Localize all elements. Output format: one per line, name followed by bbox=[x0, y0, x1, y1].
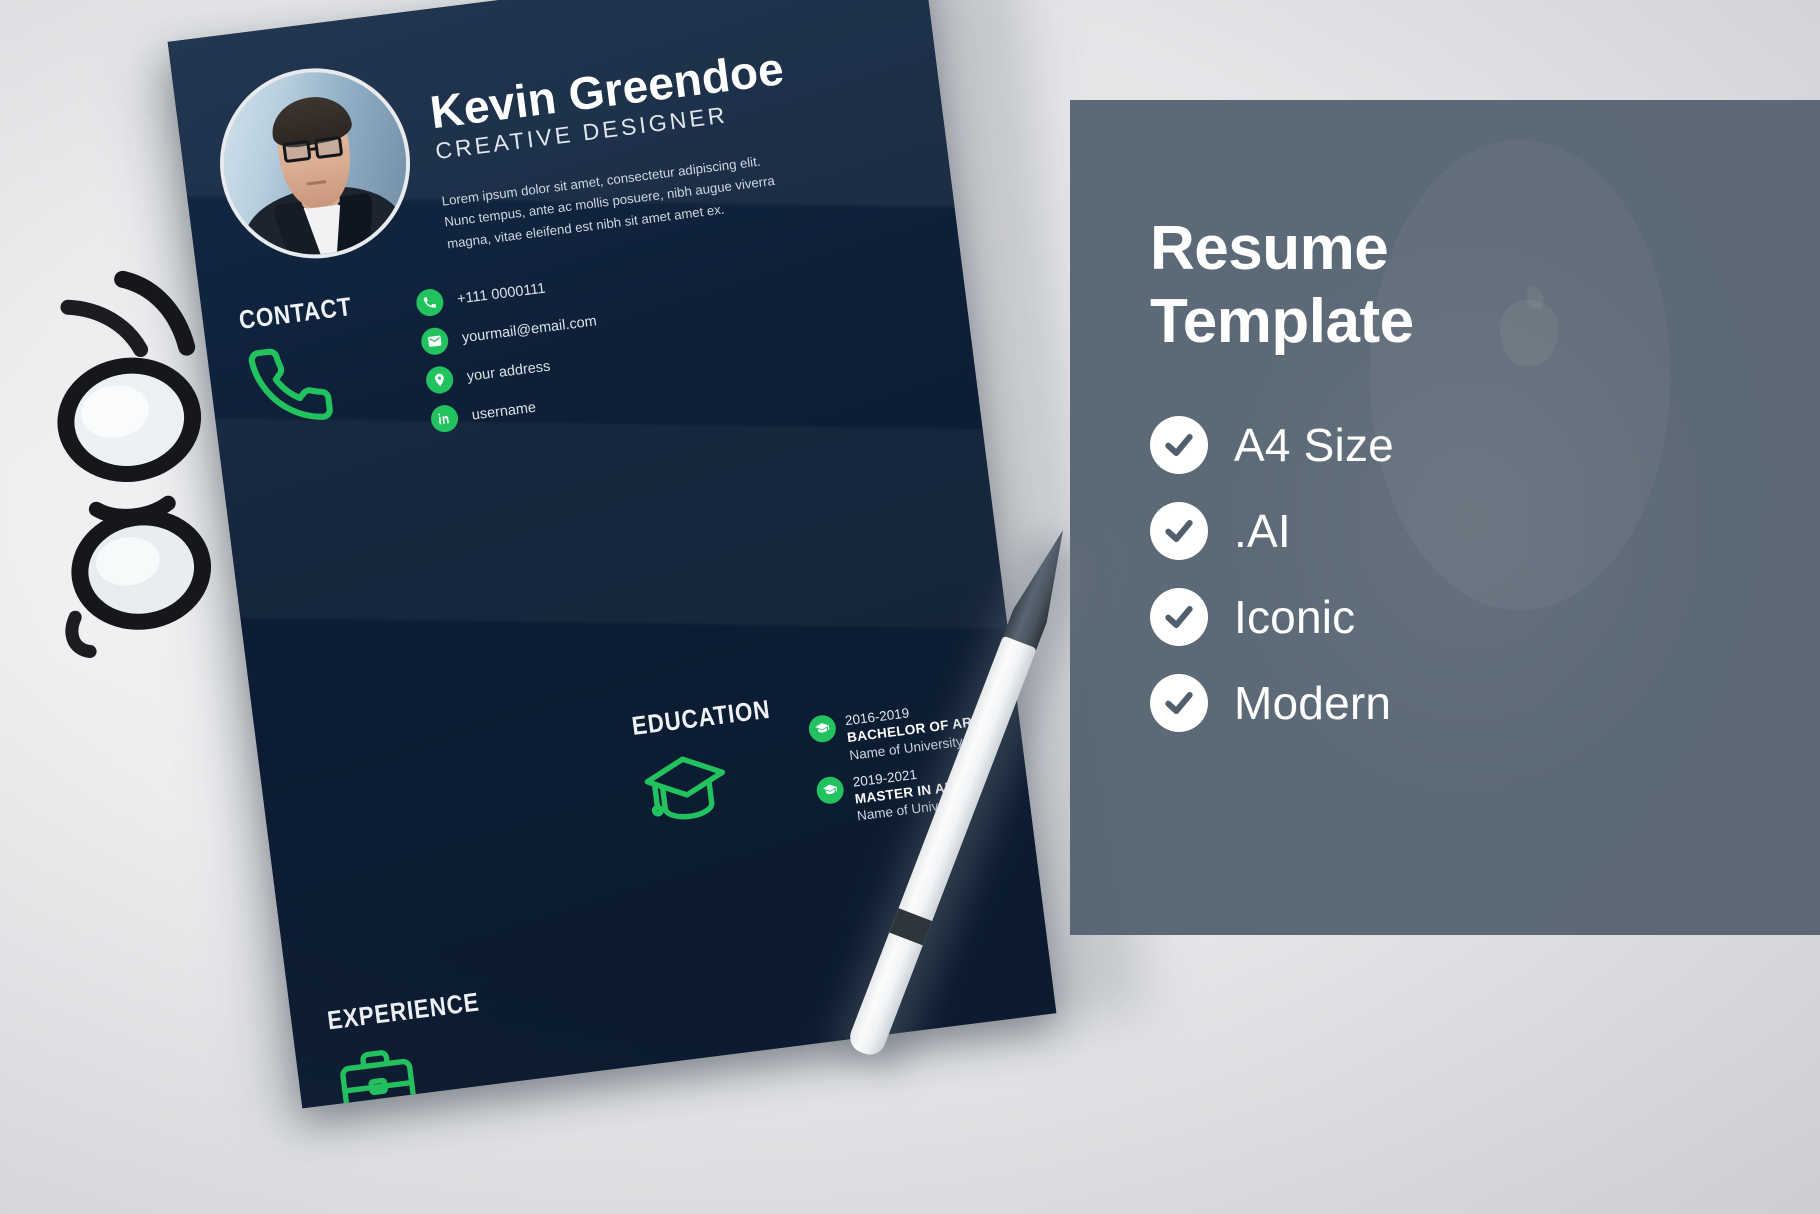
experience-column-left: 2018-2020 COMPANY NAME Lorem ipsum dolor… bbox=[475, 1107, 726, 1108]
graduation-cap-icon bbox=[807, 714, 837, 744]
contact-list: +111 0000111 yourmail@email.com your add… bbox=[414, 261, 608, 434]
feature-label: .AI bbox=[1234, 504, 1291, 558]
feature-item: Modern bbox=[1150, 674, 1820, 732]
info-panel: Resume Template A4 Size .AI Iconic bbox=[1070, 100, 1820, 935]
feature-label: A4 Size bbox=[1234, 418, 1394, 472]
scene-background: Kevin Greendoe CREATIVE DESIGNER Lorem i… bbox=[0, 0, 1820, 1214]
linkedin-icon bbox=[429, 404, 459, 434]
check-circle-icon bbox=[1150, 588, 1208, 646]
experience-item: 2018-2020 COMPANY NAME Lorem ipsum dolor… bbox=[475, 1107, 699, 1108]
check-circle-icon bbox=[1150, 502, 1208, 560]
phone-icon bbox=[415, 288, 445, 318]
feature-item: .AI bbox=[1150, 502, 1820, 560]
contact-email-value: yourmail@email.com bbox=[461, 313, 598, 346]
graduation-cap-icon bbox=[815, 775, 845, 805]
contact-linkedin-value: username bbox=[471, 399, 537, 423]
contact-phone-value: +111 0000111 bbox=[456, 280, 546, 307]
check-circle-icon bbox=[1150, 416, 1208, 474]
phone-outline-icon bbox=[243, 328, 413, 438]
avatar bbox=[209, 57, 421, 269]
feature-label: Modern bbox=[1234, 676, 1391, 730]
feature-label: Iconic bbox=[1234, 590, 1355, 644]
feature-item: A4 Size bbox=[1150, 416, 1820, 474]
panel-title: Resume Template bbox=[1070, 100, 1820, 358]
contact-item-linkedin[interactable]: username bbox=[429, 385, 608, 434]
location-pin-icon bbox=[425, 365, 455, 395]
check-circle-icon bbox=[1150, 674, 1208, 732]
eyeglasses-prop bbox=[30, 250, 260, 670]
envelope-icon bbox=[420, 326, 450, 356]
feature-item: Iconic bbox=[1150, 588, 1820, 646]
feature-list: A4 Size .AI Iconic Modern bbox=[1150, 416, 1820, 732]
contact-address-value: your address bbox=[466, 358, 551, 384]
